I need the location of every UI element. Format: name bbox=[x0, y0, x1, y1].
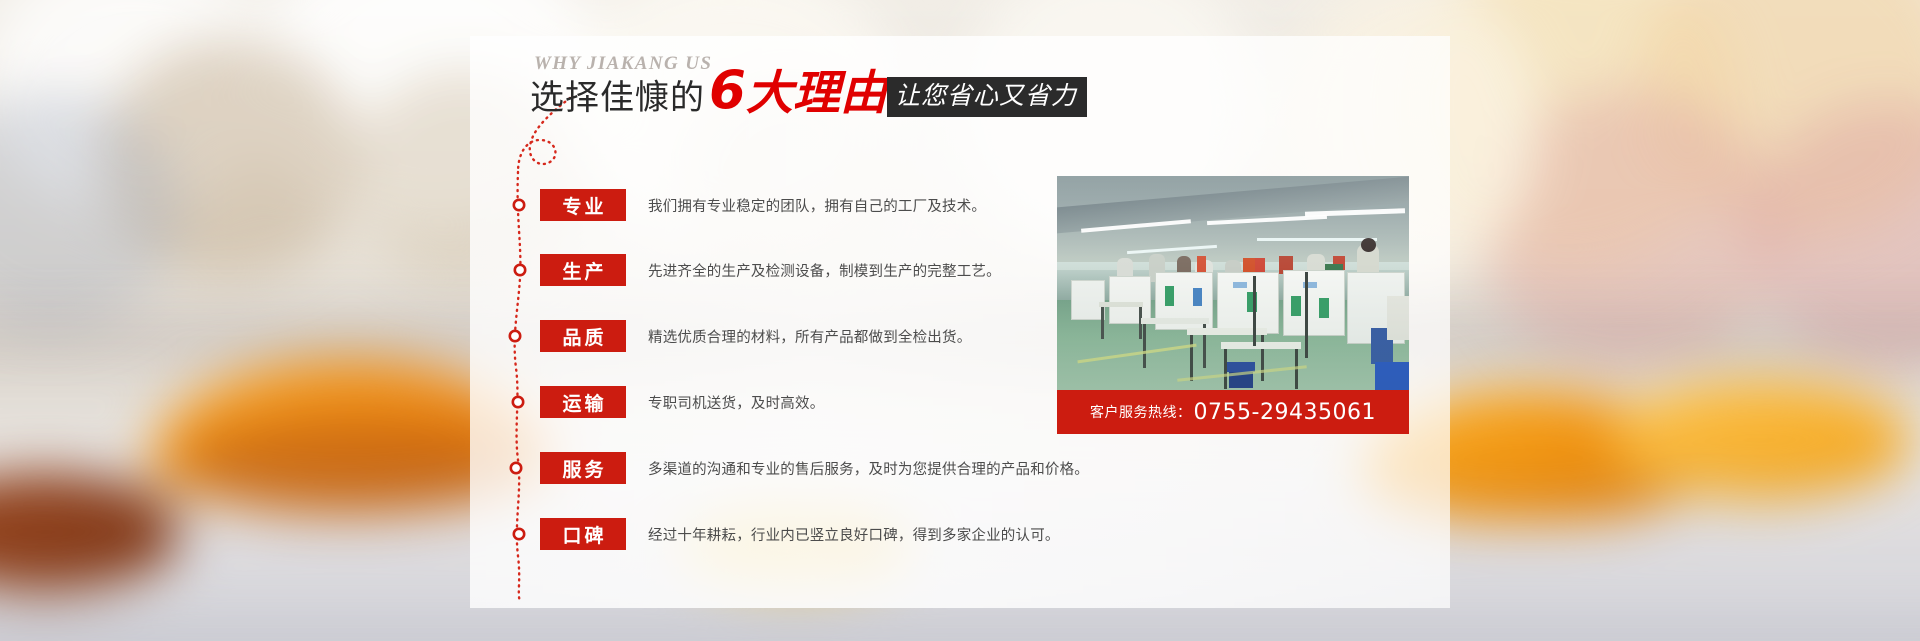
reason-row: 生产 先进齐全的生产及检测设备，制模到生产的完整工艺。 bbox=[540, 254, 1001, 286]
reason-row: 品质 精选优质合理的材料，所有产品都做到全检出货。 bbox=[540, 320, 971, 352]
reason-row: 口碑 经过十年耕耘，行业内已竖立良好口碑，得到多家企业的认可。 bbox=[540, 518, 1060, 550]
reason-badge: 生产 bbox=[540, 254, 626, 286]
reason-badge: 服务 bbox=[540, 452, 626, 484]
page-title: WHY JIAKANG US 选择佳慷的 6 大理由 让您省心又省力 bbox=[530, 55, 1087, 117]
reason-row: 专业 我们拥有专业稳定的团队，拥有自己的工厂及技术。 bbox=[540, 189, 986, 221]
reason-badge: 品质 bbox=[540, 320, 626, 352]
reason-badge: 口碑 bbox=[540, 518, 626, 550]
reason-badge: 专业 bbox=[540, 189, 626, 221]
reason-row: 运输 专职司机送货，及时高效。 bbox=[540, 386, 824, 418]
hotline-banner: 客户服务热线： 0755-29435061 bbox=[1057, 390, 1409, 434]
reason-description: 精选优质合理的材料，所有产品都做到全检出货。 bbox=[648, 326, 971, 347]
factory-photo bbox=[1057, 176, 1409, 390]
title-red: 大理由 bbox=[746, 70, 887, 117]
title-number: 6 bbox=[709, 64, 745, 117]
reason-row: 服务 多渠道的沟通和专业的售后服务，及时为您提供合理的产品和价格。 bbox=[540, 452, 1089, 484]
reason-description: 先进齐全的生产及检测设备，制模到生产的完整工艺。 bbox=[648, 260, 1001, 281]
title-tagline: 让您省心又省力 bbox=[887, 77, 1087, 117]
reason-description: 多渠道的沟通和专业的售后服务，及时为您提供合理的产品和价格。 bbox=[648, 458, 1089, 479]
title-kicker: WHY JIAKANG US bbox=[534, 53, 712, 75]
factory-photo-block: 客户服务热线： 0755-29435061 bbox=[1057, 176, 1409, 434]
title-prefix: 选择佳慷的 bbox=[530, 81, 705, 117]
hotline-number: 0755-29435061 bbox=[1194, 400, 1376, 425]
reason-description: 我们拥有专业稳定的团队，拥有自己的工厂及技术。 bbox=[648, 195, 986, 216]
reason-description: 经过十年耕耘，行业内已竖立良好口碑，得到多家企业的认可。 bbox=[648, 524, 1060, 545]
reason-description: 专职司机送货，及时高效。 bbox=[648, 392, 824, 413]
reason-badge: 运输 bbox=[540, 386, 626, 418]
hotline-label: 客户服务热线： bbox=[1090, 402, 1192, 422]
